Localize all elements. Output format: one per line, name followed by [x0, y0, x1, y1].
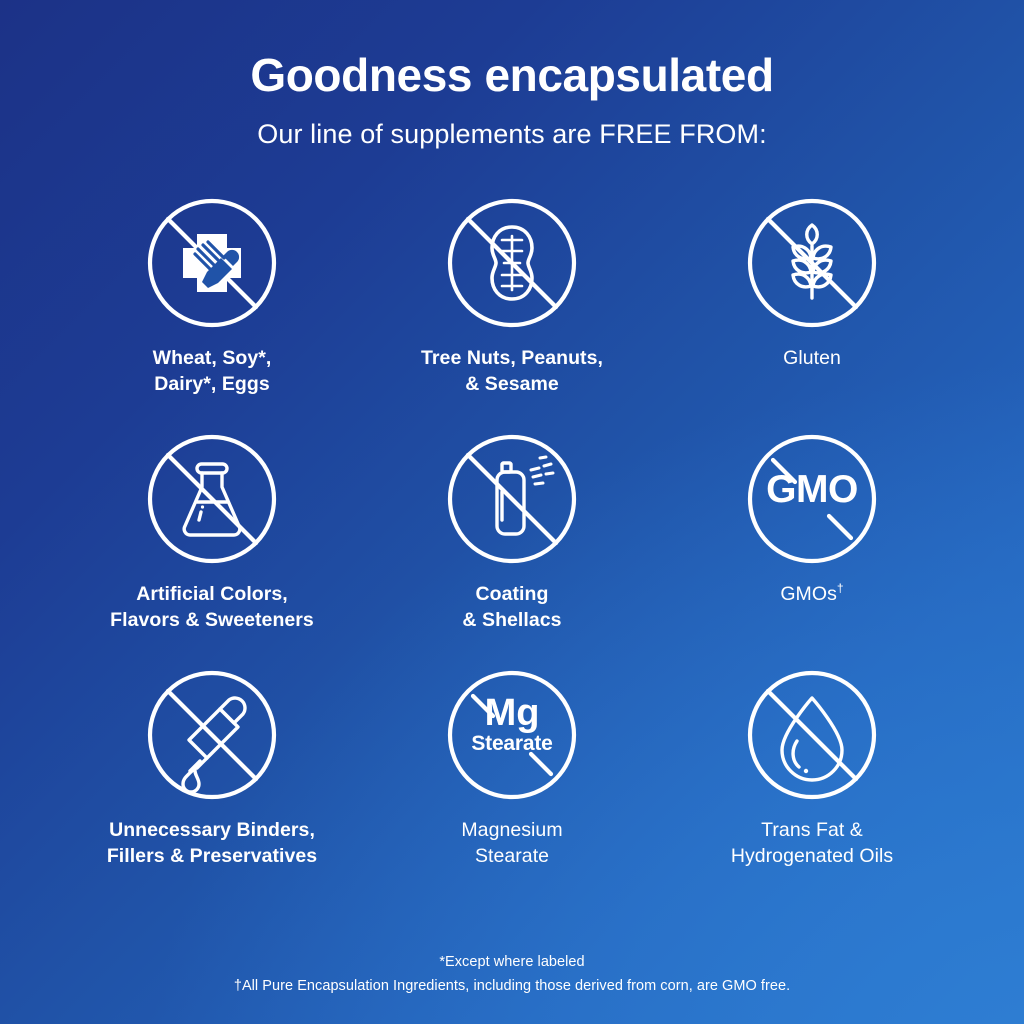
poster-root: Goodness encapsulated Our line of supple… [0, 0, 1024, 1024]
free-from-caption: Coating & Shellacs [462, 582, 561, 633]
no-oil-droplet-icon [745, 668, 879, 802]
free-from-caption: Unnecessary Binders, Fillers & Preservat… [107, 818, 317, 869]
no-dropper-icon [145, 668, 279, 802]
free-from-item: Coating & Shellacs [362, 432, 662, 668]
footnotes: *Except where labeled †All Pure Encapsul… [0, 951, 1024, 998]
free-from-grid: Wheat, Soy*, Dairy*, Eggs [62, 196, 962, 904]
no-flask-icon [145, 432, 279, 566]
free-from-caption: Magnesium Stearate [461, 818, 562, 869]
free-from-item: Wheat, Soy*, Dairy*, Eggs [62, 196, 362, 432]
no-magnesium-stearate-icon: Mg Stearate [445, 668, 579, 802]
no-spray-can-icon [445, 432, 579, 566]
page-title: Goodness encapsulated [0, 50, 1024, 101]
free-from-item: Trans Fat & Hydrogenated Oils [662, 668, 962, 904]
footnote-asterisk: *Except where labeled [0, 951, 1024, 974]
free-from-caption: Wheat, Soy*, Dairy*, Eggs [153, 346, 272, 397]
free-from-caption: Artificial Colors, Flavors & Sweeteners [110, 582, 314, 633]
free-from-caption: Trans Fat & Hydrogenated Oils [731, 818, 893, 869]
no-peanut-icon [445, 196, 579, 330]
free-from-item: Mg Stearate Magnesium Stearate [362, 668, 662, 904]
free-from-item: Unnecessary Binders, Fillers & Preservat… [62, 668, 362, 904]
no-fork-knife-cross-icon [145, 196, 279, 330]
free-from-caption: GMOs† [780, 582, 843, 608]
no-wheat-stalk-icon [745, 196, 879, 330]
free-from-item: Artificial Colors, Flavors & Sweeteners [62, 432, 362, 668]
free-from-item: Gluten [662, 196, 962, 432]
footnote-dagger: †All Pure Encapsulation Ingredients, inc… [0, 975, 1024, 998]
no-gmo-icon: GMO [745, 432, 879, 566]
free-from-item: Tree Nuts, Peanuts, & Sesame [362, 196, 662, 432]
header: Goodness encapsulated Our line of supple… [0, 0, 1024, 150]
free-from-caption: Tree Nuts, Peanuts, & Sesame [421, 346, 603, 397]
page-subtitle: Our line of supplements are FREE FROM: [0, 119, 1024, 150]
free-from-caption: Gluten [783, 346, 841, 372]
free-from-item: GMO GMOs† [662, 432, 962, 668]
